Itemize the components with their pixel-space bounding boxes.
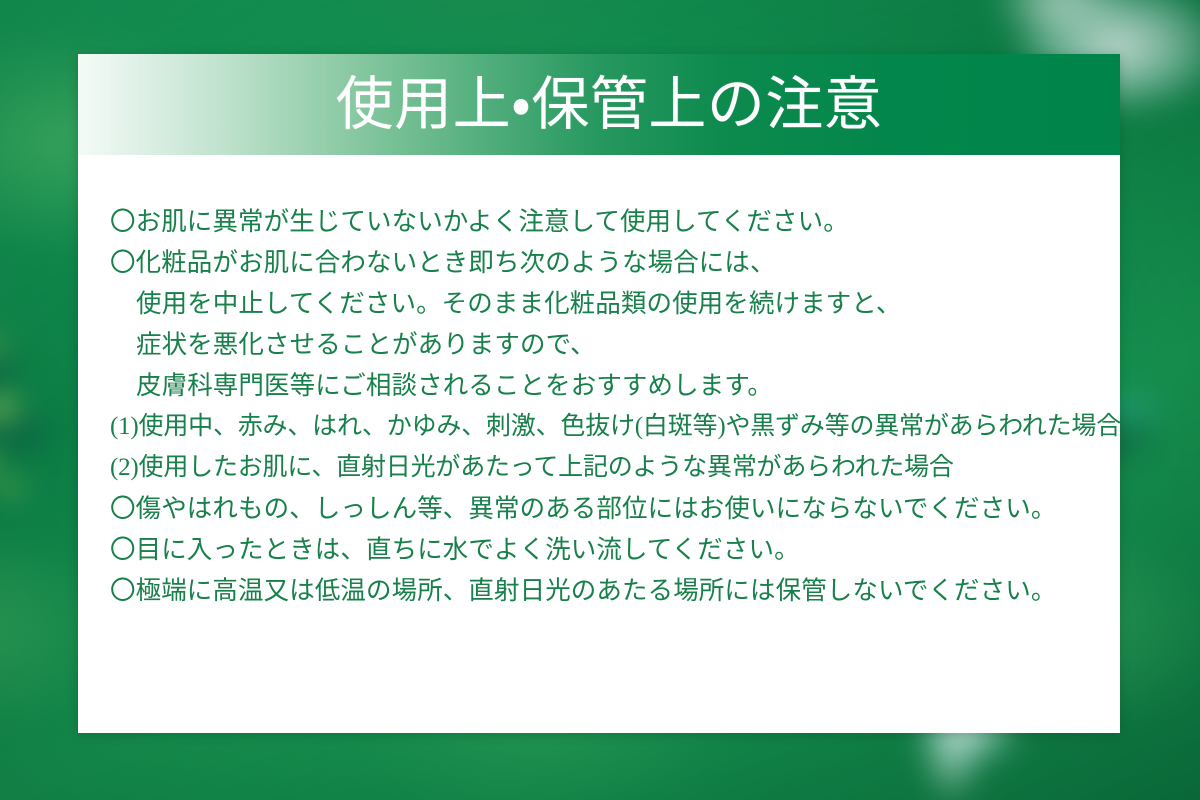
notice-line-numbered: (2)使用したお肌に、直射日光があたって上記のような異常があらわれた場合: [78, 447, 1120, 488]
page-title: 使用上・保管上の注意: [336, 76, 883, 134]
notice-body: 〇お肌に異常が生じていないかよく注意して使用してください。 〇化粧品がお肌に合わ…: [78, 155, 1120, 611]
notice-line: 〇お肌に異常が生じていないかよく注意して使用してください。: [78, 201, 1120, 242]
notice-line: 使用を中止してください。そのまま化粧品類の使用を続けますと、: [78, 283, 1120, 324]
notice-line: 皮膚科専門医等にご相談されることをおすすめします。: [78, 365, 1120, 406]
notice-line: 〇化粧品がお肌に合わないとき即ち次のような場合には、: [78, 242, 1120, 283]
notice-line: 〇目に入ったときは、直ちに水でよく洗い流してください。: [78, 529, 1120, 570]
notice-line: 〇極端に高温又は低温の場所、直射日光のあたる場所には保管しないでください。: [78, 570, 1120, 611]
notice-line-numbered: (1)使用中、赤み、はれ、かゆみ、刺激、色抜け(白斑等)や黒ずみ等の異常があらわ…: [78, 406, 1120, 447]
card-header-band: 使用上・保管上の注意: [78, 54, 1120, 155]
notice-card: 使用上・保管上の注意 〇お肌に異常が生じていないかよく注意して使用してください。…: [78, 54, 1120, 733]
notice-line: 症状を悪化させることがありますので、: [78, 324, 1120, 365]
notice-line: 〇傷やはれもの、しっしん等、異常のある部位にはお使いにならないでください。: [78, 488, 1120, 529]
page-stage: 使用上・保管上の注意 〇お肌に異常が生じていないかよく注意して使用してください。…: [0, 0, 1200, 800]
